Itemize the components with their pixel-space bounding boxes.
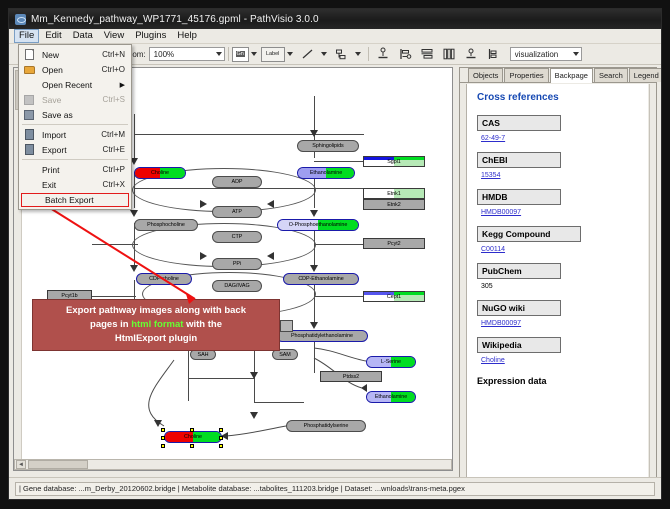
- menu-item-label: New: [37, 50, 102, 60]
- node-label: SAM: [279, 352, 291, 358]
- cross-references-title: Cross references: [477, 92, 638, 103]
- menu-item-label: Save as: [37, 110, 125, 120]
- menu-item-label: Exit: [37, 180, 103, 190]
- node-label: Ethanolamine: [310, 170, 342, 176]
- align-center-icon[interactable]: [375, 46, 391, 62]
- node-adp[interactable]: ADP: [212, 176, 262, 188]
- node-etnk1[interactable]: Etnk1: [363, 188, 425, 199]
- node-label: Choline: [151, 170, 169, 176]
- menu-item-accel: Ctrl+M: [101, 130, 131, 139]
- expression-data-title: Expression data: [477, 376, 638, 386]
- screenshot-root: Mm_Kennedy_pathway_WP1771_45176.gpml - P…: [0, 0, 670, 509]
- annotation-callout: Export pathway images along with back pa…: [32, 299, 280, 351]
- menu-item-print[interactable]: Print Ctrl+P: [19, 162, 131, 177]
- menu-data[interactable]: Data: [68, 29, 98, 43]
- annotation-line-1: Export pathway images along with back: [39, 304, 273, 318]
- connector: [314, 244, 364, 245]
- xref-header-chebi: ChEBI: [477, 152, 561, 168]
- chevron-down-icon: [216, 52, 222, 56]
- xref-header-pubchem: PubChem: [477, 263, 561, 279]
- toolbar-separator: [228, 47, 229, 61]
- panel-tabstrip: Objects Properties Backpage Search Legen…: [460, 68, 656, 83]
- blank-icon: [21, 78, 37, 91]
- align-left-icon[interactable]: [397, 46, 413, 62]
- node-label: Sgpl1: [387, 159, 401, 165]
- annotation-highlight: html format: [131, 319, 183, 330]
- callout-anchor-handle[interactable]: [280, 320, 293, 332]
- menu-item-label: Open: [37, 65, 102, 75]
- menu-item-accel: Ctrl+O: [102, 65, 131, 74]
- xref-header-cas: CAS: [477, 115, 561, 131]
- node-pcyt2[interactable]: Pcyt2: [363, 238, 425, 249]
- file-menu-popup[interactable]: New Ctrl+N Open Ctrl+O Open Recent ▶ Sav…: [18, 44, 132, 210]
- xref-value-pubchem: 305: [477, 279, 638, 296]
- blank-icon-2: [21, 163, 37, 176]
- node-l-serine[interactable]: L-Serine: [366, 356, 416, 368]
- save-as-icon: [21, 108, 37, 121]
- node-o-phosphoethanolamine[interactable]: O-Phosphoethanolamine: [277, 219, 359, 231]
- connector: [254, 344, 255, 402]
- node-label: Pcyt1b: [61, 293, 77, 299]
- app-icon: [15, 14, 26, 25]
- distribute-horizontal-icon[interactable]: [419, 46, 435, 62]
- node-etnk2[interactable]: Etnk2: [363, 199, 425, 210]
- menu-item-accel: Ctrl+X: [103, 180, 131, 189]
- menu-item-accel: Ctrl+N: [102, 50, 131, 59]
- status-bar: | Gene database: ...m_Derby_20120602.bri…: [9, 477, 661, 499]
- node-label: Etnk1: [387, 191, 401, 197]
- xref-value-nugo[interactable]: HMDB00097: [477, 316, 638, 333]
- node-label: Cept1: [387, 294, 401, 300]
- visualization-value: visualization: [515, 50, 559, 59]
- menu-item-accel: Ctrl+P: [103, 165, 131, 174]
- xref-header-wikipedia: Wikipedia: [477, 337, 561, 353]
- menu-item-export[interactable]: Export Ctrl+E: [19, 142, 131, 157]
- node-label: PPi: [233, 261, 241, 267]
- new-document-icon: [21, 48, 37, 61]
- stack-icon[interactable]: [441, 46, 457, 62]
- menu-file[interactable]: File: [14, 29, 39, 43]
- anchor-icon[interactable]: [485, 46, 501, 62]
- connector: [92, 296, 136, 297]
- node-ppi[interactable]: PPi: [212, 258, 262, 270]
- selection-handle[interactable]: [219, 428, 223, 432]
- node-cdp-ethanolamine[interactable]: CDP-Ethanolamine: [283, 273, 359, 285]
- node-ptdss2[interactable]: Ptdss2: [320, 371, 382, 382]
- node-phosphocholine[interactable]: Phosphocholine: [134, 219, 198, 231]
- xref-header-hmdb: HMDB: [477, 189, 561, 205]
- node-sphingolipids[interactable]: Sphingolipids: [297, 140, 359, 152]
- node-label: Pcyt2: [387, 241, 400, 247]
- node-phosphatidylserine[interactable]: Phosphatidylserine: [286, 420, 366, 432]
- node-label: Choline: [184, 434, 202, 440]
- xref-value-kegg[interactable]: C00114: [477, 242, 638, 259]
- node-label: Phosphocholine: [147, 222, 185, 228]
- chevron-down-icon-2: [573, 52, 579, 56]
- tab-backpage[interactable]: Backpage: [550, 68, 593, 83]
- scroll-left-button[interactable]: ◄: [16, 460, 26, 469]
- node-sgpl1[interactable]: Sgpl1: [363, 156, 425, 167]
- node-choline-selected[interactable]: Choline: [164, 431, 222, 443]
- window-title: Mm_Kennedy_pathway_WP1771_45176.gpml - P…: [31, 14, 319, 25]
- node-label: Etnk2: [387, 202, 401, 208]
- import-icon: [21, 128, 37, 141]
- line-tool-icon[interactable]: [300, 46, 316, 62]
- node-label: Sphingolipids: [312, 143, 343, 149]
- connector: [188, 378, 254, 379]
- node-ethanolamine-2[interactable]: Ethanolamine: [366, 391, 416, 403]
- menu-separator-2: [22, 159, 128, 160]
- menu-plugins[interactable]: Plugins: [130, 29, 171, 43]
- selection-handle[interactable]: [161, 428, 165, 432]
- canvas-hscrollbar[interactable]: ◄: [14, 459, 452, 470]
- menu-item-new[interactable]: New Ctrl+N: [19, 47, 131, 62]
- connector: [134, 114, 135, 158]
- annotation-line-3: HtmlExport plugin: [39, 332, 273, 346]
- submenu-arrow-icon: ▶: [120, 81, 131, 89]
- node-dag[interactable]: DAG/IVAG: [212, 280, 262, 292]
- menu-separator: [22, 124, 128, 125]
- node-label: CDP-choline: [149, 276, 179, 282]
- group-icon[interactable]: [463, 46, 479, 62]
- annotation-line-2: pages in html format with the: [39, 318, 273, 332]
- label-button-text: Label: [266, 51, 279, 57]
- node-ctp[interactable]: CTP: [212, 231, 262, 243]
- menu-item-label: Batch Export: [24, 195, 128, 205]
- tab-properties[interactable]: Properties: [504, 68, 548, 82]
- connector: [254, 402, 304, 403]
- menu-item-import[interactable]: Import Ctrl+M: [19, 127, 131, 142]
- panel-scrollbar[interactable]: [649, 84, 656, 480]
- selection-handle[interactable]: [219, 436, 223, 440]
- zoom-combo[interactable]: 100%: [149, 47, 225, 61]
- backpage-content: Cross references CAS 62-49-7 ChEBI 15354…: [466, 84, 648, 480]
- selection-handle[interactable]: [219, 444, 223, 448]
- menu-item-save[interactable]: Save Ctrl+S: [19, 92, 131, 107]
- export-icon: [21, 143, 37, 156]
- node-label: O-Phosphoethanolamine: [289, 222, 348, 228]
- menu-view[interactable]: View: [99, 29, 129, 43]
- menu-item-batch-export[interactable]: Batch Export: [21, 193, 129, 207]
- line-dropdown-icon[interactable]: [321, 52, 327, 56]
- menu-item-exit[interactable]: Exit Ctrl+X: [19, 177, 131, 192]
- selection-handle[interactable]: [161, 436, 165, 440]
- node-label: Phosphatidylethanolamine: [291, 333, 353, 339]
- node-label: CDP-Ethanolamine: [298, 276, 343, 282]
- node-label: ATP: [232, 209, 242, 215]
- menu-bar: File Edit Data View Plugins Help: [9, 29, 661, 44]
- selection-handle[interactable]: [161, 444, 165, 448]
- xref-value-wikipedia[interactable]: Choline: [477, 353, 638, 370]
- menu-item-label: Print: [37, 165, 103, 175]
- selection-handle[interactable]: [190, 444, 194, 448]
- node-label: Phosphatidylserine: [304, 423, 349, 429]
- datanode-icon: Gn: [236, 51, 245, 57]
- menu-item-label: Save: [37, 95, 103, 105]
- datanode-dropdown-icon[interactable]: [251, 52, 257, 56]
- visualization-combo[interactable]: visualization: [510, 47, 582, 61]
- open-folder-icon: [21, 63, 37, 76]
- menu-help[interactable]: Help: [172, 29, 202, 43]
- menu-item-save-as[interactable]: Save as: [19, 107, 131, 122]
- node-label: CTP: [232, 234, 243, 240]
- menu-item-accel: Ctrl+S: [103, 95, 131, 104]
- node-cept1[interactable]: Cept1: [363, 291, 425, 302]
- zoom-value: 100%: [154, 50, 174, 59]
- menu-item-label: Import: [37, 130, 101, 140]
- interaction-tool-icon[interactable]: [334, 46, 350, 62]
- node-label: ADP: [232, 179, 243, 185]
- node-label: L-Serine: [381, 359, 401, 365]
- annotation-line-2-b: with the: [183, 319, 222, 330]
- toolbar-separator-2: [368, 47, 369, 61]
- xref-value-cas[interactable]: 62-49-7: [477, 131, 638, 148]
- label-button[interactable]: Label: [261, 47, 285, 62]
- title-bar: Mm_Kennedy_pathway_WP1771_45176.gpml - P…: [9, 9, 661, 29]
- tab-search[interactable]: Search: [594, 68, 628, 82]
- save-icon: [21, 93, 37, 106]
- menu-item-label: Export: [37, 145, 103, 155]
- menu-item-accel: Ctrl+E: [103, 145, 131, 154]
- connector: [134, 134, 364, 135]
- side-panel: ◄ Objects Properties Backpage Search Leg…: [459, 67, 657, 483]
- interaction-dropdown-icon[interactable]: [355, 52, 361, 56]
- datanode-button[interactable]: Gn: [232, 47, 249, 62]
- tab-legend[interactable]: Legend: [629, 68, 662, 82]
- node-label: Ethanolamine: [375, 394, 407, 400]
- hscroll-thumb[interactable]: [28, 460, 88, 469]
- menu-item-label: Open Recent: [37, 80, 120, 90]
- connector: [314, 280, 315, 322]
- connector: [314, 296, 364, 297]
- xref-header-nugo: NuGO wiki: [477, 300, 561, 316]
- xref-value-hmdb[interactable]: HMDB00097: [477, 205, 638, 222]
- node-label: Ptdss2: [343, 374, 359, 380]
- menu-item-open[interactable]: Open Ctrl+O: [19, 62, 131, 77]
- menu-item-open-recent[interactable]: Open Recent ▶: [19, 77, 131, 92]
- node-choline-top[interactable]: Choline: [134, 167, 186, 179]
- connector: [314, 161, 364, 162]
- node-ethanolamine[interactable]: Ethanolamine: [297, 167, 355, 179]
- node-label: DAG/IVAG: [224, 283, 249, 289]
- status-text: | Gene database: ...m_Derby_20120602.bri…: [15, 482, 655, 496]
- pathvisio-window: Mm_Kennedy_pathway_WP1771_45176.gpml - P…: [8, 8, 662, 500]
- tab-objects[interactable]: Objects: [468, 68, 503, 82]
- label-dropdown-icon[interactable]: [287, 52, 293, 56]
- node-atp[interactable]: ATP: [212, 206, 262, 218]
- xref-value-chebi[interactable]: 15354: [477, 168, 638, 185]
- node-cdp-choline[interactable]: CDP-choline: [136, 273, 192, 285]
- xref-header-kegg: Kegg Compound: [477, 226, 581, 242]
- menu-edit[interactable]: Edit: [40, 29, 66, 43]
- blank-icon-3: [21, 178, 37, 191]
- node-label: SAH: [198, 352, 209, 358]
- annotation-line-2-a: pages in: [90, 319, 131, 330]
- selection-handle[interactable]: [190, 428, 194, 432]
